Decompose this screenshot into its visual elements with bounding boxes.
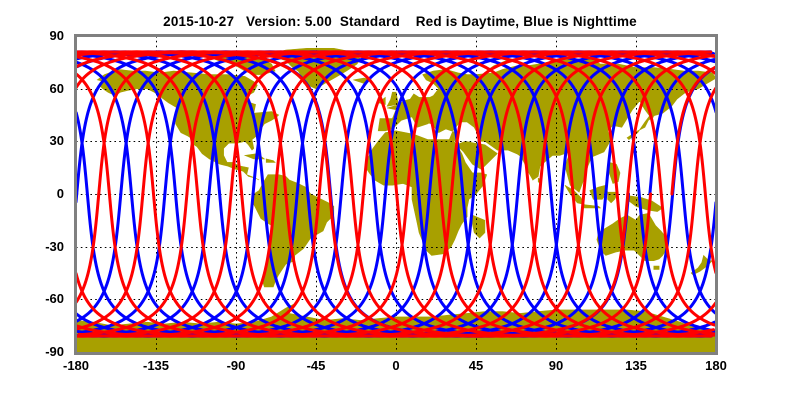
x-tick-label-90: 90 — [521, 358, 591, 373]
y-tick-label-60: 60 — [0, 81, 64, 96]
x-tick-label-45: 45 — [441, 358, 511, 373]
y-tick-label--30: -30 — [0, 239, 64, 254]
x-tick-label-180: 180 — [681, 358, 751, 373]
page-title: 2015-10-27 Version: 5.00 Standard Red is… — [0, 14, 800, 29]
ground-track-map-figure: 2015-10-27 Version: 5.00 Standard Red is… — [0, 0, 800, 400]
y-tick-label-0: 0 — [0, 186, 64, 201]
axis-top-spine — [74, 34, 718, 37]
x-tick-label--90: -90 — [201, 358, 271, 373]
axis-left-spine — [74, 34, 77, 354]
x-tick-label--135: -135 — [121, 358, 191, 373]
y-tick-label--90: -90 — [0, 344, 64, 359]
y-tick-label-90: 90 — [0, 28, 64, 43]
y-tick — [0, 51, 5, 52]
axis-bottom-spine — [74, 352, 718, 355]
x-tick-label--180: -180 — [41, 358, 111, 373]
y-tick-label--60: -60 — [0, 291, 64, 306]
y-tick-label-30: 30 — [0, 133, 64, 148]
ground-track-plot — [76, 36, 716, 352]
x-tick-label--45: -45 — [281, 358, 351, 373]
plot-area — [76, 36, 716, 352]
x-tick-label-0: 0 — [361, 358, 431, 373]
axis-right-spine — [715, 34, 718, 354]
landmass-polygon — [654, 266, 659, 270]
x-tick-label-135: 135 — [601, 358, 671, 373]
